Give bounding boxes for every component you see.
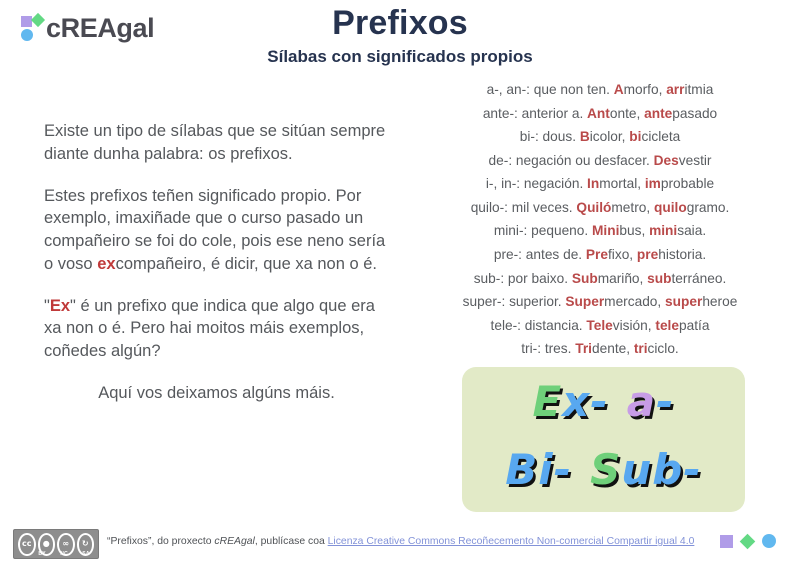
prefix-list: a-, an-: que non ten. Amorfo, arritmiaan… [404,78,796,361]
prefix-emphasis: tri [634,341,648,356]
prefix-text: morfo, [624,82,667,97]
prefix-row: de-: negación ou desfacer. Desvestir [404,149,796,173]
handwriting-word: Sub- [590,445,702,494]
prefix-text: ciclo. [648,341,679,356]
handwriting-word: Bi- [505,445,572,494]
license-text-middle: , publícase coa [255,536,328,547]
corner-marks [720,534,776,548]
handwriting-glyph: - [656,377,674,426]
prefix-emphasis: Mini [592,223,619,238]
prefix-row: quilo-: mil veces. Quilómetro, quilogram… [404,196,796,220]
page-subtitle: Sílabas con significados propios [0,47,800,67]
license-project-name: cREAgal [214,536,254,547]
prefix-emphasis: quilo [654,200,687,215]
corner-blue-circle-icon [762,534,776,548]
handwriting-glyph: x- [562,377,609,426]
prefix-row: super-: superior. Supermercado, superher… [404,290,796,314]
prefix-emphasis: tele [655,318,679,333]
paragraph-3: "Ex" é un prefixo que indica que algo qu… [44,295,389,363]
handwriting-glyph: a [627,377,656,426]
prefix-emphasis: mini [649,223,677,238]
prefix-text: bi-: dous. [520,129,580,144]
prefix-text: onte, [610,106,644,121]
prefix-emphasis: pre [637,247,658,262]
prefix-text: historia. [658,247,706,262]
prefix-emphasis: im [645,176,661,191]
prefix-emphasis: Quiló [576,200,611,215]
handwriting-word: Ex- [532,377,608,426]
handwriting-box: Ex-a- Bi-Sub- [462,367,745,512]
handwriting-glyph: ub- [621,445,701,494]
prefix-text: probable [661,176,714,191]
prefix-text: saia. [677,223,706,238]
cc-badge-labels: BY NC SA [17,551,97,557]
prefix-emphasis: Tri [575,341,592,356]
prefix-emphasis: Super [565,294,604,309]
slide-canvas: cREAgal Prefixos Sílabas con significado… [0,0,800,566]
prefix-text: patía [679,318,709,333]
license-link[interactable]: Licenza Creative Commons Recoñecemento N… [328,536,695,547]
prefix-emphasis: ante [644,106,672,121]
handwriting-glyph: E [532,377,562,426]
corner-green-diamond-icon [740,533,756,549]
page-title: Prefixos [0,4,800,43]
prefix-text: fixo, [608,247,637,262]
handwriting-word: a- [627,377,675,426]
prefix-emphasis: In [587,176,599,191]
corner-purple-square-icon [720,535,733,548]
handwriting-row-2: Bi-Sub- [462,445,745,494]
license-text-before: “Prefixos”, do proxecto [107,536,214,547]
cc-label-nc: NC [60,551,68,557]
prefix-row: mini-: pequeno. Minibus, minisaia. [404,219,796,243]
prefix-row: tri-: tres. Tridente, triciclo. [404,337,796,361]
prefix-row: i-, in-: negación. Inmortal, improbable [404,172,796,196]
prefix-text: terráneo. [672,271,727,286]
prefix-text: ante-: anterior a. [483,106,587,121]
prefix-text: icolor, [590,129,630,144]
prefix-emphasis: Tele [586,318,612,333]
handwriting-glyph: Bi- [505,445,572,494]
prefix-text: mariño, [598,271,647,286]
paragraph-3-part-b: " é un prefixo que indica que algo que e… [44,297,375,361]
license-text: “Prefixos”, do proxecto cREAgal, publíca… [107,536,694,547]
prefix-emphasis: Pre [586,247,608,262]
handwriting-glyph: S [590,445,621,494]
prefix-text: a-, an-: que non ten. [487,82,614,97]
prefix-text: sub-: por baixo. [474,271,572,286]
prefix-text: pasado [672,106,717,121]
paragraph-3-highlight: Ex [50,297,70,315]
cc-label-sa: SA [82,551,90,557]
prefix-emphasis: arr [666,82,684,97]
prefix-row: a-, an-: que non ten. Amorfo, arritmia [404,78,796,102]
prefix-text: metro, [611,200,654,215]
prefix-text: cicleta [641,129,680,144]
prefix-text: de-: negación ou desfacer. [489,153,654,168]
prefix-text: mini-: pequeno. [494,223,592,238]
prefix-emphasis: Sub [572,271,598,286]
cc-label-by: BY [38,551,46,557]
prefix-row: tele-: distancia. Televisión, telepatía [404,314,796,338]
prefix-text: tri-: tres. [521,341,575,356]
prefix-emphasis: sub [647,271,671,286]
prefix-text: dente, [592,341,634,356]
prefix-text: super-: superior. [463,294,566,309]
prefix-emphasis: bi [629,129,641,144]
prefix-row: ante-: anterior a. Antonte, antepasado [404,102,796,126]
paragraph-2-highlight: ex [97,255,115,273]
paragraph-1: Existe un tipo de sílabas que se sitúan … [44,120,389,166]
prefix-text: bus, [619,223,649,238]
prefix-text: gramo. [687,200,730,215]
prefix-text: i-, in-: negación. [486,176,587,191]
paragraph-2-part-b: compañeiro, é dicir, que xa non o é. [116,255,377,273]
prefix-text: quilo-: mil veces. [471,200,577,215]
prefix-text: itmia [684,82,713,97]
footer: cc ● ∞ ↻ BY NC SA “Prefixos”, do proxect… [0,520,800,566]
paragraph-4: Aquí vos deixamos algúns máis. [44,382,389,405]
prefix-text: visión, [613,318,656,333]
prefix-emphasis: A [614,82,624,97]
prefix-emphasis: Des [654,153,679,168]
prefix-emphasis: super [665,294,702,309]
prefix-emphasis: Ant [587,106,610,121]
prefix-text: pre-: antes de. [494,247,586,262]
prefix-text: mercado, [604,294,665,309]
prefix-emphasis: B [580,129,590,144]
prefix-row: sub-: por baixo. Submariño, subterráneo. [404,267,796,291]
creative-commons-badge: cc ● ∞ ↻ BY NC SA [13,529,99,559]
prefix-text: mortal, [599,176,645,191]
prefix-text: tele-: distancia. [491,318,587,333]
prefix-row: pre-: antes de. Prefixo, prehistoria. [404,243,796,267]
prefix-text: heroe [702,294,737,309]
prefix-text: vestir [679,153,712,168]
explanation-text: Existe un tipo de sílabas que se sitúan … [44,120,389,405]
prefix-row: bi-: dous. Bicolor, bicicleta [404,125,796,149]
paragraph-2: Estes prefixos teñen significado propio.… [44,185,389,276]
handwriting-row-1: Ex-a- [462,377,745,426]
